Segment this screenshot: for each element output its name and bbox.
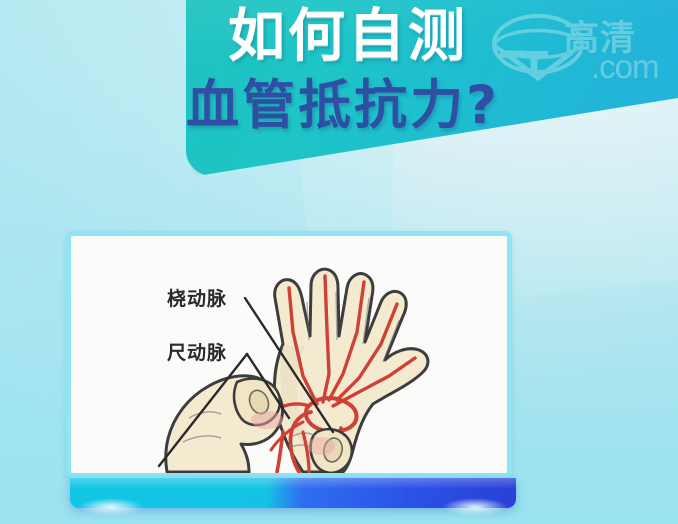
base-bar-glow-left bbox=[78, 498, 144, 516]
hand-artery-illustration bbox=[71, 236, 507, 473]
headline-block: 如何自测 血管抵抗力? bbox=[0, 8, 678, 132]
poster-canvas: 高清 .com 如何自测 血管抵抗力? bbox=[0, 0, 678, 524]
illustration-canvas: 桡动脉 尺动脉 bbox=[71, 236, 507, 473]
base-bar-highlight bbox=[70, 478, 516, 489]
illustration-card: 桡动脉 尺动脉 bbox=[66, 231, 512, 478]
headline-line-1: 如何自测 bbox=[18, 8, 678, 65]
label-radial-artery: 桡动脉 bbox=[167, 284, 227, 311]
card-base-bar bbox=[70, 478, 516, 508]
headline-line-2: 血管抵抗力? bbox=[8, 79, 678, 132]
base-bar-glow-right bbox=[442, 498, 508, 516]
label-ulnar-artery: 尺动脉 bbox=[167, 338, 227, 365]
